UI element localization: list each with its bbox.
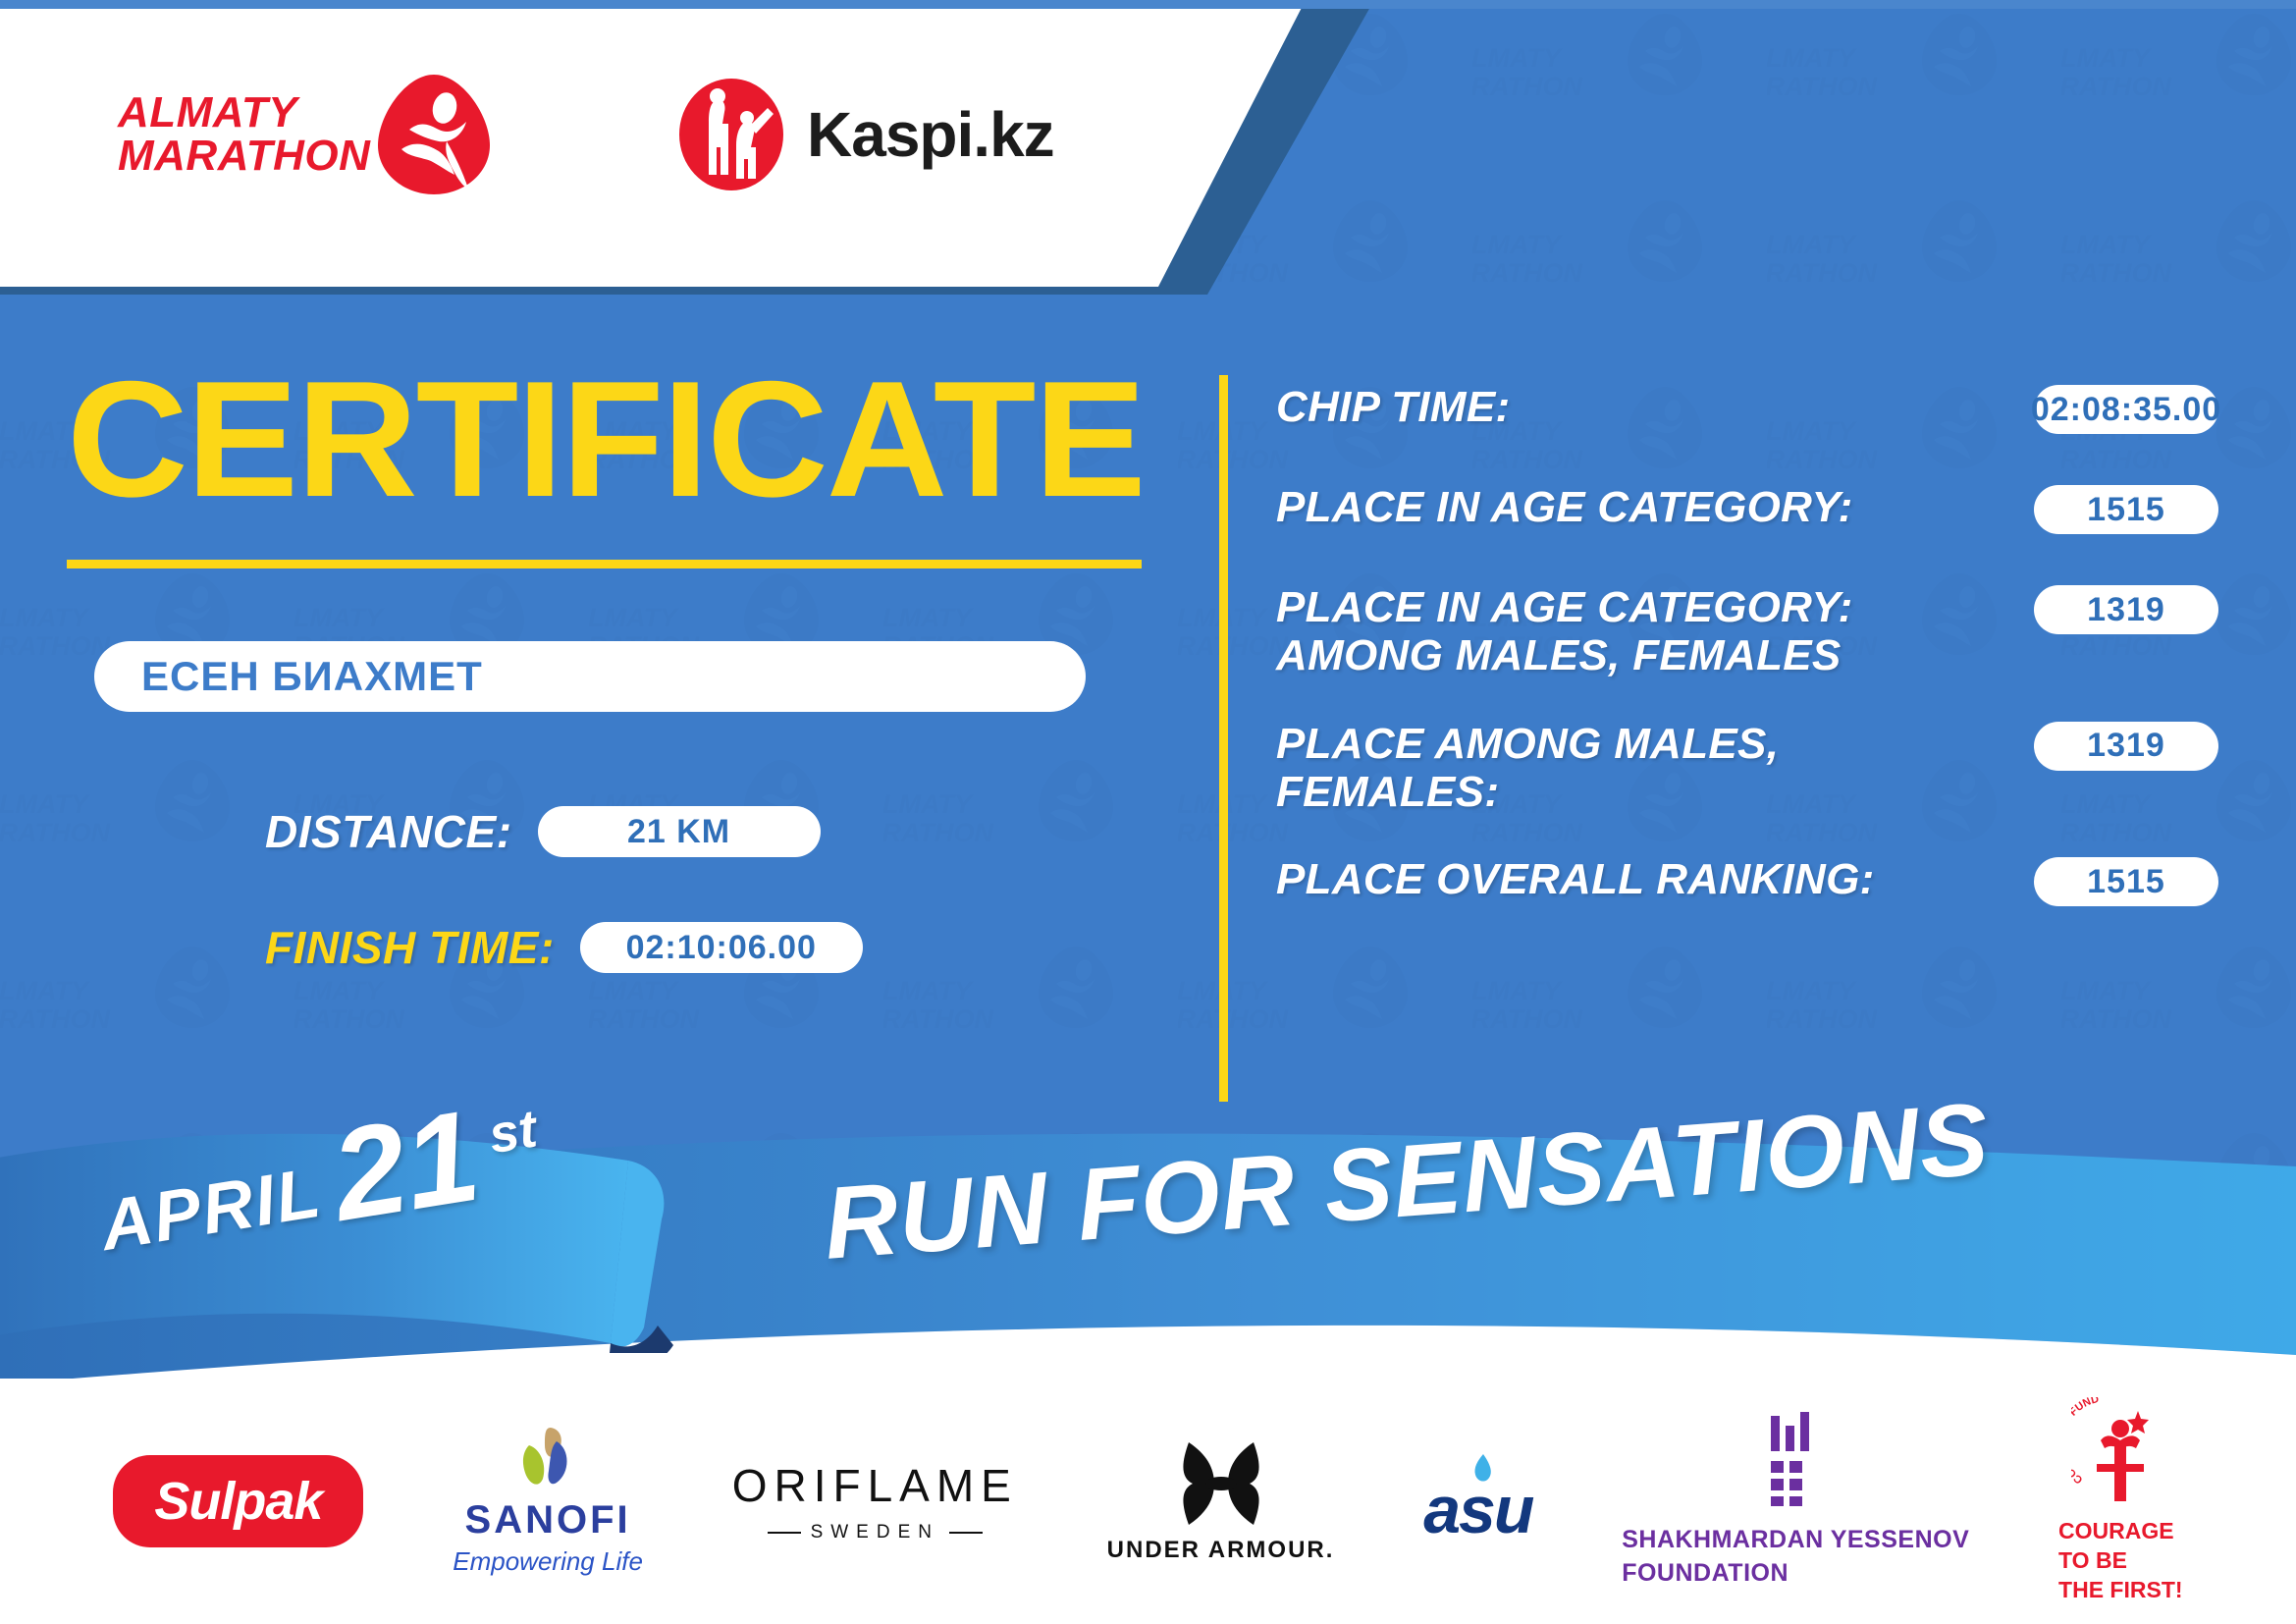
- stat-row-place-age-category: PLACE IN AGE CATEGORY: 1515: [1276, 483, 2218, 544]
- top-accent-rule: [0, 0, 2296, 9]
- stat-row-finish-time: FINISH TIME: 02:10:06.00: [265, 921, 863, 974]
- place-age-category-label: PLACE IN AGE CATEGORY:: [1276, 483, 1853, 531]
- place-age-category-among-label: PLACE IN AGE CATEGORY: AMONG MALES, FEMA…: [1276, 583, 1904, 680]
- place-overall-label: PLACE OVERALL RANKING:: [1276, 855, 1875, 903]
- kaspi-wordmark: Kaspi.kz: [807, 98, 1054, 171]
- courage-line2: TO BE: [2058, 1546, 2183, 1576]
- event-day-ordinal: st: [485, 1098, 541, 1165]
- page-title: CERTIFICATE: [67, 361, 1163, 518]
- certificate-title-block: CERTIFICATE: [67, 361, 1142, 568]
- athlete-name-field: ЕСЕН БИАХМЕТ: [94, 641, 1086, 712]
- yessenov-line1: SHAKHMARDAN YESSENOV: [1622, 1524, 1969, 1557]
- place-among-males-females-value-pill: 1319: [2034, 722, 2218, 771]
- stat-row-place-overall: PLACE OVERALL RANKING: 1515: [1276, 855, 2218, 916]
- under-armour-icon: [1167, 1438, 1275, 1529]
- under-armour-wordmark: UNDER ARMOUR.: [1107, 1537, 1335, 1564]
- place-overall-value: 1515: [2087, 863, 2165, 901]
- chip-time-value: 02:08:35.00: [2031, 391, 2221, 429]
- stat-row-distance: DISTANCE: 21 KM: [265, 805, 821, 858]
- results-panel: CHIP TIME: 02:08:35.00 PLACE IN AGE CATE…: [1276, 383, 2218, 955]
- kaspi-logo: Kaspi.kz: [677, 77, 1054, 192]
- sponsor-asu: asu: [1423, 1454, 1532, 1548]
- yessenov-bars-icon: [1769, 1412, 1822, 1506]
- place-among-males-females-label: PLACE AMONG MALES, FEMALES:: [1276, 720, 1904, 817]
- oriflame-subline: SWEDEN: [768, 1522, 983, 1543]
- place-age-category-among-value-pill: 1319: [2034, 585, 2218, 634]
- title-underline: [67, 560, 1142, 568]
- finish-time-value-pill: 02:10:06.00: [580, 922, 863, 973]
- place-age-category-among-value: 1319: [2087, 591, 2165, 629]
- oriflame-rule-left: [768, 1532, 801, 1534]
- asu-wordmark: asu: [1423, 1472, 1532, 1548]
- marathon-logo-line1: ALMATY: [118, 91, 370, 135]
- sponsor-sanofi: SANOFI Empowering Life: [453, 1426, 643, 1577]
- marathon-logo-line2: MARATHON: [118, 135, 370, 178]
- certificate-canvas: ALMATY MARATHON Kaspi.kz: [0, 0, 2296, 1624]
- vertical-divider: [1219, 375, 1228, 1102]
- courage-figure-icon: CORPORATE FUND: [2071, 1397, 2169, 1507]
- almaty-marathon-wordmark: ALMATY MARATHON: [118, 91, 370, 178]
- finish-time-label: FINISH TIME:: [265, 921, 555, 974]
- runner-drop-icon: [376, 73, 492, 196]
- sanofi-wordmark: SANOFI: [465, 1498, 631, 1543]
- oriflame-country: SWEDEN: [811, 1522, 939, 1543]
- distance-value: 21 KM: [627, 813, 730, 851]
- place-age-category-value-pill: 1515: [2034, 485, 2218, 534]
- courage-line1: COURAGE: [2058, 1517, 2183, 1546]
- place-among-males-females-value: 1319: [2087, 727, 2165, 765]
- place-overall-value-pill: 1515: [2034, 857, 2218, 906]
- courage-wordmark: COURAGE TO BE THE FIRST!: [2058, 1517, 2183, 1605]
- courage-line3: THE FIRST!: [2058, 1576, 2183, 1605]
- athlete-name-value: ЕСЕН БИАХМЕТ: [141, 653, 483, 700]
- chip-time-value-pill: 02:08:35.00: [2034, 385, 2218, 434]
- sponsor-sulpak: Sulpak: [113, 1455, 363, 1547]
- chip-time-label: CHIP TIME:: [1276, 383, 1510, 431]
- oriflame-rule-right: [949, 1532, 983, 1534]
- kaspi-people-icon: [677, 77, 785, 192]
- sponsor-yessenov-foundation: SHAKHMARDAN YESSENOV FOUNDATION: [1622, 1412, 1969, 1591]
- distance-label: DISTANCE:: [265, 805, 512, 858]
- sponsor-strip: Sulpak SANOFI Empowering Life ORIFLAME S…: [0, 1379, 2296, 1624]
- stat-row-chip-time: CHIP TIME: 02:08:35.00: [1276, 383, 2218, 444]
- place-age-category-value: 1515: [2087, 491, 2165, 529]
- distance-value-pill: 21 KM: [538, 806, 821, 857]
- sanofi-icon: [513, 1426, 582, 1498]
- oriflame-wordmark: ORIFLAME: [732, 1459, 1018, 1512]
- sulpak-logo: Sulpak: [113, 1455, 363, 1547]
- stat-row-place-among-males-females: PLACE AMONG MALES, FEMALES: 1319: [1276, 720, 2218, 817]
- yessenov-wordmark: SHAKHMARDAN YESSENOV FOUNDATION: [1622, 1524, 1969, 1591]
- yessenov-line2: FOUNDATION: [1622, 1557, 1969, 1591]
- svg-text:CORPORATE FUND: CORPORATE FUND: [2071, 1397, 2100, 1486]
- stat-row-place-age-category-among: PLACE IN AGE CATEGORY: AMONG MALES, FEMA…: [1276, 583, 2218, 680]
- sanofi-tagline: Empowering Life: [453, 1546, 643, 1577]
- sponsor-oriflame: ORIFLAME SWEDEN: [732, 1459, 1018, 1543]
- sponsor-under-armour: UNDER ARMOUR.: [1107, 1438, 1335, 1564]
- sponsor-courage-fund: CORPORATE FUND COURAGE TO BE THE FIRST!: [2058, 1397, 2183, 1605]
- finish-time-value: 02:10:06.00: [626, 929, 817, 967]
- almaty-marathon-logo: ALMATY MARATHON: [118, 61, 471, 208]
- event-day: 21: [326, 1103, 485, 1230]
